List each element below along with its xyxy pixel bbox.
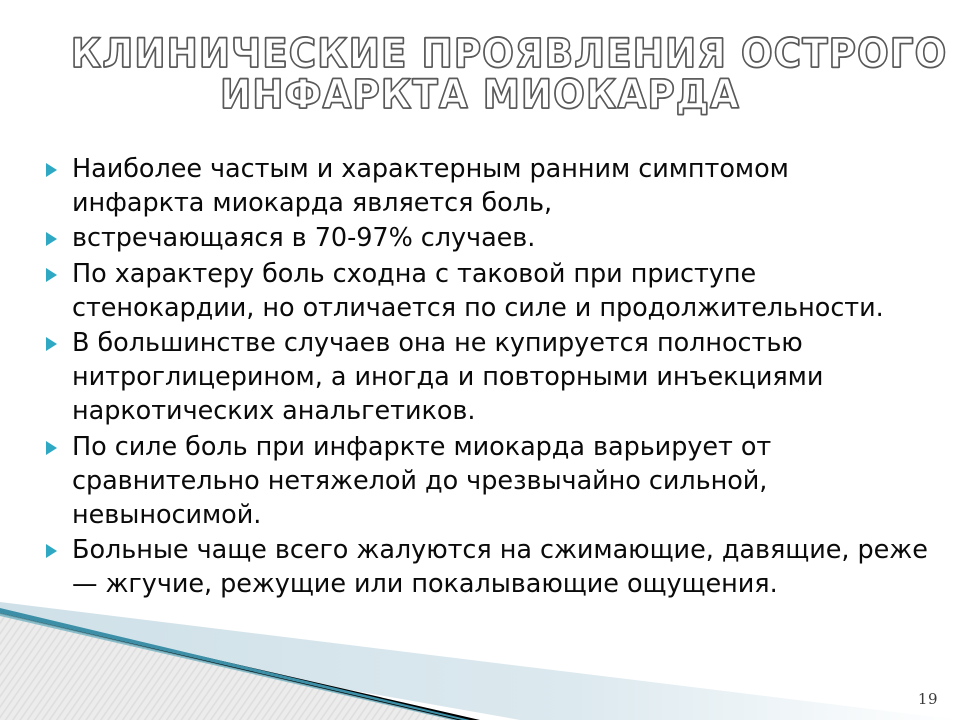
triangle-bullet-icon — [46, 163, 57, 177]
triangle-bullet-icon — [46, 268, 57, 282]
triangle-bullet-icon — [46, 337, 57, 351]
list-item-text: встречающаяся в 70-97% случаев. — [72, 221, 928, 255]
list-item: По характеру боль сходна с таковой при п… — [36, 257, 928, 325]
slide-title-line-2: ИНФАРКТА МИОКАРДА — [71, 75, 889, 116]
list-item-text: По силе боль при инфаркте миокарда варьи… — [72, 430, 928, 533]
list-item: Наиболее частым и характерным ранним сим… — [36, 152, 928, 220]
list-item-text: В большинстве случаев она не купируется … — [72, 326, 928, 429]
triangle-bullet-icon — [46, 232, 57, 246]
list-item-text: Больные чаще всего жалуются на сжимающие… — [72, 533, 928, 601]
page-number: 19 — [918, 690, 938, 708]
wedge-edge-highlight — [0, 613, 458, 720]
list-item: В большинстве случаев она не купируется … — [36, 326, 928, 429]
list-item: По силе боль при инфаркте миокарда варьи… — [36, 430, 928, 533]
list-item: Больные чаще всего жалуются на сжимающие… — [36, 533, 928, 601]
list-item-text: Наиболее частым и характерным ранним сим… — [72, 152, 928, 220]
slide-title-line-1: КЛИНИЧЕСКИЕ ПРОЯВЛЕНИЯ ОСТРОГО — [71, 34, 889, 75]
bullet-list: Наиболее частым и характерным ранним сим… — [36, 152, 928, 603]
hatched-gray-wedge — [0, 614, 455, 720]
triangle-bullet-icon — [46, 544, 57, 558]
list-item: встречающаяся в 70-97% случаев. — [36, 221, 928, 255]
teal-accent-line — [0, 608, 470, 720]
list-item-text: По характеру боль сходна с таковой при п… — [72, 257, 928, 325]
triangle-bullet-icon — [46, 441, 57, 455]
slide-canvas: КЛИНИЧЕСКИЕ ПРОЯВЛЕНИЯ ОСТРОГО ИНФАРКТА … — [0, 0, 960, 720]
black-band — [0, 610, 480, 720]
pale-blue-band — [0, 602, 960, 720]
slide-title: КЛИНИЧЕСКИЕ ПРОЯВЛЕНИЯ ОСТРОГО ИНФАРКТА … — [40, 34, 920, 116]
